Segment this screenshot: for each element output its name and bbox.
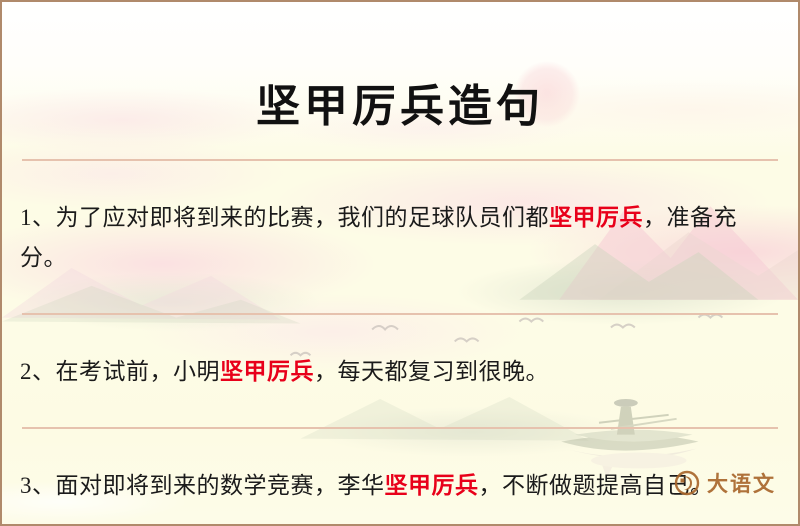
- idiom-highlight-2: 坚甲厉兵: [220, 359, 314, 384]
- sentence-text-before-2: 在考试前，小明: [56, 359, 221, 384]
- sentence-item-1: 1、为了应对即将到来的比赛，我们的足球队员们都坚甲厉兵，准备充分。: [18, 184, 782, 290]
- sentence-item-3: 3、面对即将到来的数学竞赛，李华坚甲厉兵，不断做题提高自己。: [18, 452, 782, 518]
- content-area: 坚甲厉兵造句 1、为了应对即将到来的比赛，我们的足球队员们都坚甲厉兵，准备充分。…: [2, 31, 798, 526]
- page-root: 坚甲厉兵造句 1、为了应对即将到来的比赛，我们的足球队员们都坚甲厉兵，准备充分。…: [0, 0, 800, 526]
- page-title: 坚甲厉兵造句: [18, 31, 782, 129]
- sentence-index-3: 3、: [20, 473, 56, 498]
- watermark-brand-text: 大语文: [707, 468, 776, 498]
- idiom-highlight-3: 坚甲厉兵: [385, 473, 479, 498]
- divider-after-sentence-1: [22, 313, 778, 315]
- divider-under-title: [22, 159, 778, 161]
- divider-after-sentence-2: [22, 427, 778, 429]
- circle-swoosh-logo-icon: [674, 470, 700, 496]
- sentence-text-before-1: 为了应对即将到来的比赛，我们的足球队员们都: [56, 205, 550, 230]
- idiom-highlight-1: 坚甲厉兵: [549, 205, 643, 230]
- watermark: 大语文: [674, 468, 776, 498]
- sentence-index-1: 1、: [20, 205, 56, 230]
- sentence-item-2: 2、在考试前，小明坚甲厉兵，每天都复习到很晚。: [18, 338, 782, 404]
- sentence-index-2: 2、: [20, 359, 56, 384]
- sentence-text-before-3: 面对即将到来的数学竞赛，李华: [56, 473, 385, 498]
- sentence-text-after-2: ，每天都复习到很晚。: [314, 359, 549, 384]
